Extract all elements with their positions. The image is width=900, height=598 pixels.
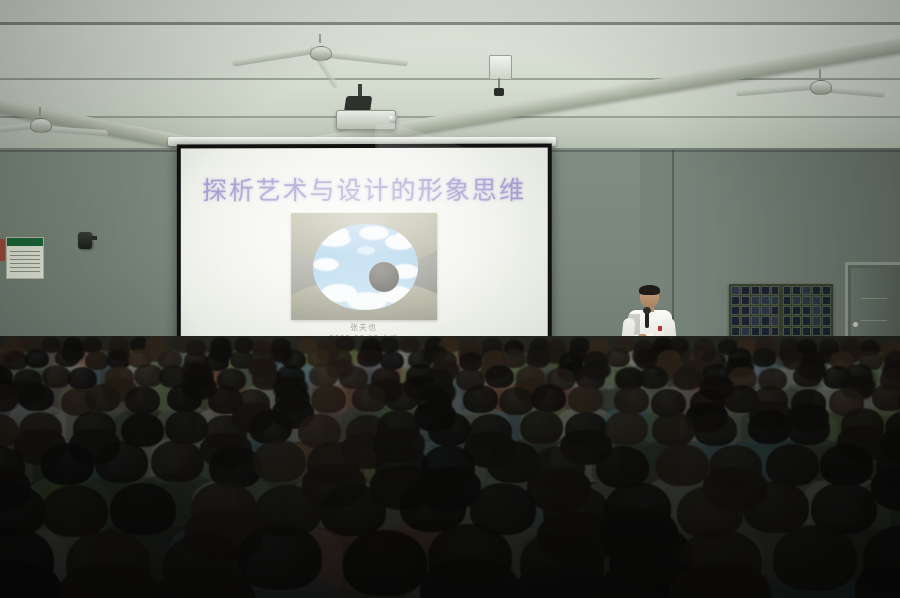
- audience-person-head: [311, 385, 346, 413]
- locker-cell: [771, 327, 780, 336]
- audience-person-head: [568, 385, 603, 413]
- projector-lens: [388, 114, 397, 123]
- locker-cell: [783, 296, 792, 305]
- locker-cell: [812, 286, 821, 295]
- audience-person-head: [320, 484, 386, 536]
- locker-cell: [731, 327, 740, 336]
- ceiling-seam: [0, 78, 900, 80]
- security-camera-icon: [494, 88, 504, 96]
- audience-person-head: [463, 385, 498, 413]
- locker-cell: [783, 327, 792, 336]
- audience-person-head: [309, 364, 338, 387]
- audience-person-head: [820, 444, 873, 486]
- slide-image-eye-with-sky: [291, 213, 437, 320]
- locker-cell: [761, 306, 770, 315]
- audience-person-head: [343, 530, 427, 596]
- red-strip: [0, 239, 5, 261]
- audience-person-head: [25, 349, 49, 368]
- projector-icon: [336, 110, 396, 130]
- locker-cell: [812, 316, 821, 325]
- lecture-hall-photo: 探析艺术与设计的形象思维: [0, 0, 900, 598]
- locker-cell: [751, 286, 760, 295]
- locker-cell: [783, 286, 792, 295]
- audience-person-head: [606, 348, 630, 367]
- audience-person-head: [793, 364, 822, 387]
- audience-person-head: [125, 386, 160, 414]
- locker-cell: [802, 296, 811, 305]
- locker-cell: [741, 296, 750, 305]
- audience-person-head: [526, 349, 550, 368]
- junction-box: [489, 55, 512, 80]
- locker-cell: [792, 306, 801, 315]
- eye-pupil: [368, 262, 398, 292]
- audience-person-head: [605, 411, 648, 445]
- audience-person-head: [673, 367, 702, 390]
- locker-cell: [731, 306, 740, 315]
- locker-cell: [761, 286, 770, 295]
- locker-cell: [771, 316, 780, 325]
- locker-cell: [771, 306, 780, 315]
- slide-surface: 探析艺术与设计的形象思维: [181, 148, 548, 359]
- locker-cell: [731, 286, 740, 295]
- locker-cell: [751, 327, 760, 336]
- locker-cell: [771, 296, 780, 305]
- locker-cell: [792, 286, 801, 295]
- audience-person-head: [151, 440, 204, 482]
- locker-cell: [822, 306, 831, 315]
- audience-person-head: [639, 366, 668, 389]
- audience-person-head: [249, 410, 292, 444]
- locker-cell: [783, 316, 792, 325]
- door-knob-icon[interactable]: [853, 322, 858, 327]
- audience-person-head: [773, 525, 857, 591]
- audience-person-head: [656, 444, 709, 486]
- audience-person-head: [872, 383, 900, 411]
- locker-cell: [741, 306, 750, 315]
- audience-person-head: [485, 365, 514, 388]
- audience-person-head: [85, 351, 109, 370]
- speaker-hair: [639, 285, 660, 295]
- audience-person-head: [694, 412, 737, 446]
- audience-person-head: [499, 387, 534, 415]
- audience-person-head: [238, 524, 322, 590]
- wall-speaker-icon: [78, 232, 92, 249]
- locker-cell: [812, 327, 821, 336]
- locker-cell: [751, 316, 760, 325]
- audience-person-head: [253, 440, 306, 482]
- audience-person-head: [766, 444, 819, 486]
- locker-cell: [792, 316, 801, 325]
- audience: [0, 336, 900, 598]
- locker-cell: [761, 327, 770, 336]
- slide-author: 张夫也: [181, 322, 548, 334]
- locker-cell: [812, 306, 821, 315]
- ceiling-seam: [0, 22, 900, 25]
- audience-person-head: [743, 481, 809, 533]
- audience-person-head: [752, 348, 776, 367]
- ceiling-band: [0, 80, 900, 116]
- audience-person-head: [110, 483, 176, 535]
- locker-cell: [802, 327, 811, 336]
- locker-cell: [751, 306, 760, 315]
- slide-title: 探析艺术与设计的形象思维: [181, 171, 548, 208]
- locker-cell: [802, 316, 811, 325]
- audience-person-head: [19, 383, 54, 411]
- audience-person-head: [41, 443, 94, 485]
- locker-cell: [792, 296, 801, 305]
- audience-person-head: [400, 480, 466, 532]
- locker-cell: [771, 286, 780, 295]
- audience-person-head: [167, 384, 202, 412]
- speaker-badge: [658, 326, 662, 331]
- audience-person-head: [357, 348, 381, 367]
- audience-person-head: [614, 386, 649, 414]
- eye-iris-sky: [313, 224, 418, 310]
- locker-cell: [822, 286, 831, 295]
- audience-person-head: [520, 410, 563, 444]
- projection-screen: 探析艺术与设计的形象思维: [177, 144, 552, 363]
- locker-cell: [731, 296, 740, 305]
- locker-cell: [802, 306, 811, 315]
- audience-person-head: [652, 412, 695, 446]
- audience-person-head: [531, 384, 566, 412]
- audience-person-head: [352, 384, 387, 412]
- notice-board: [6, 237, 44, 279]
- locker-cell: [741, 316, 750, 325]
- microphone-head: [643, 307, 651, 314]
- locker-cell: [792, 327, 801, 336]
- locker-cell: [751, 296, 760, 305]
- locker-cell: [741, 286, 750, 295]
- locker-cell: [822, 327, 831, 336]
- locker-cell: [802, 286, 811, 295]
- audience-person-head: [787, 411, 830, 445]
- locker-cell: [741, 327, 750, 336]
- audience-person-head: [165, 410, 208, 444]
- locker-cell: [731, 316, 740, 325]
- locker-cell: [761, 296, 770, 305]
- locker-cell: [822, 316, 831, 325]
- audience-person-head: [95, 441, 148, 483]
- audience-person-head: [85, 384, 120, 412]
- audience-person-head: [42, 485, 108, 537]
- notice-header: [7, 238, 43, 246]
- audience-person-head: [748, 410, 791, 444]
- audience-person-head: [384, 383, 419, 411]
- locker-cell: [783, 306, 792, 315]
- speaker-bracket: [91, 236, 97, 240]
- locker-cell: [822, 296, 831, 305]
- locker-cell: [812, 296, 821, 305]
- locker-cell: [761, 316, 770, 325]
